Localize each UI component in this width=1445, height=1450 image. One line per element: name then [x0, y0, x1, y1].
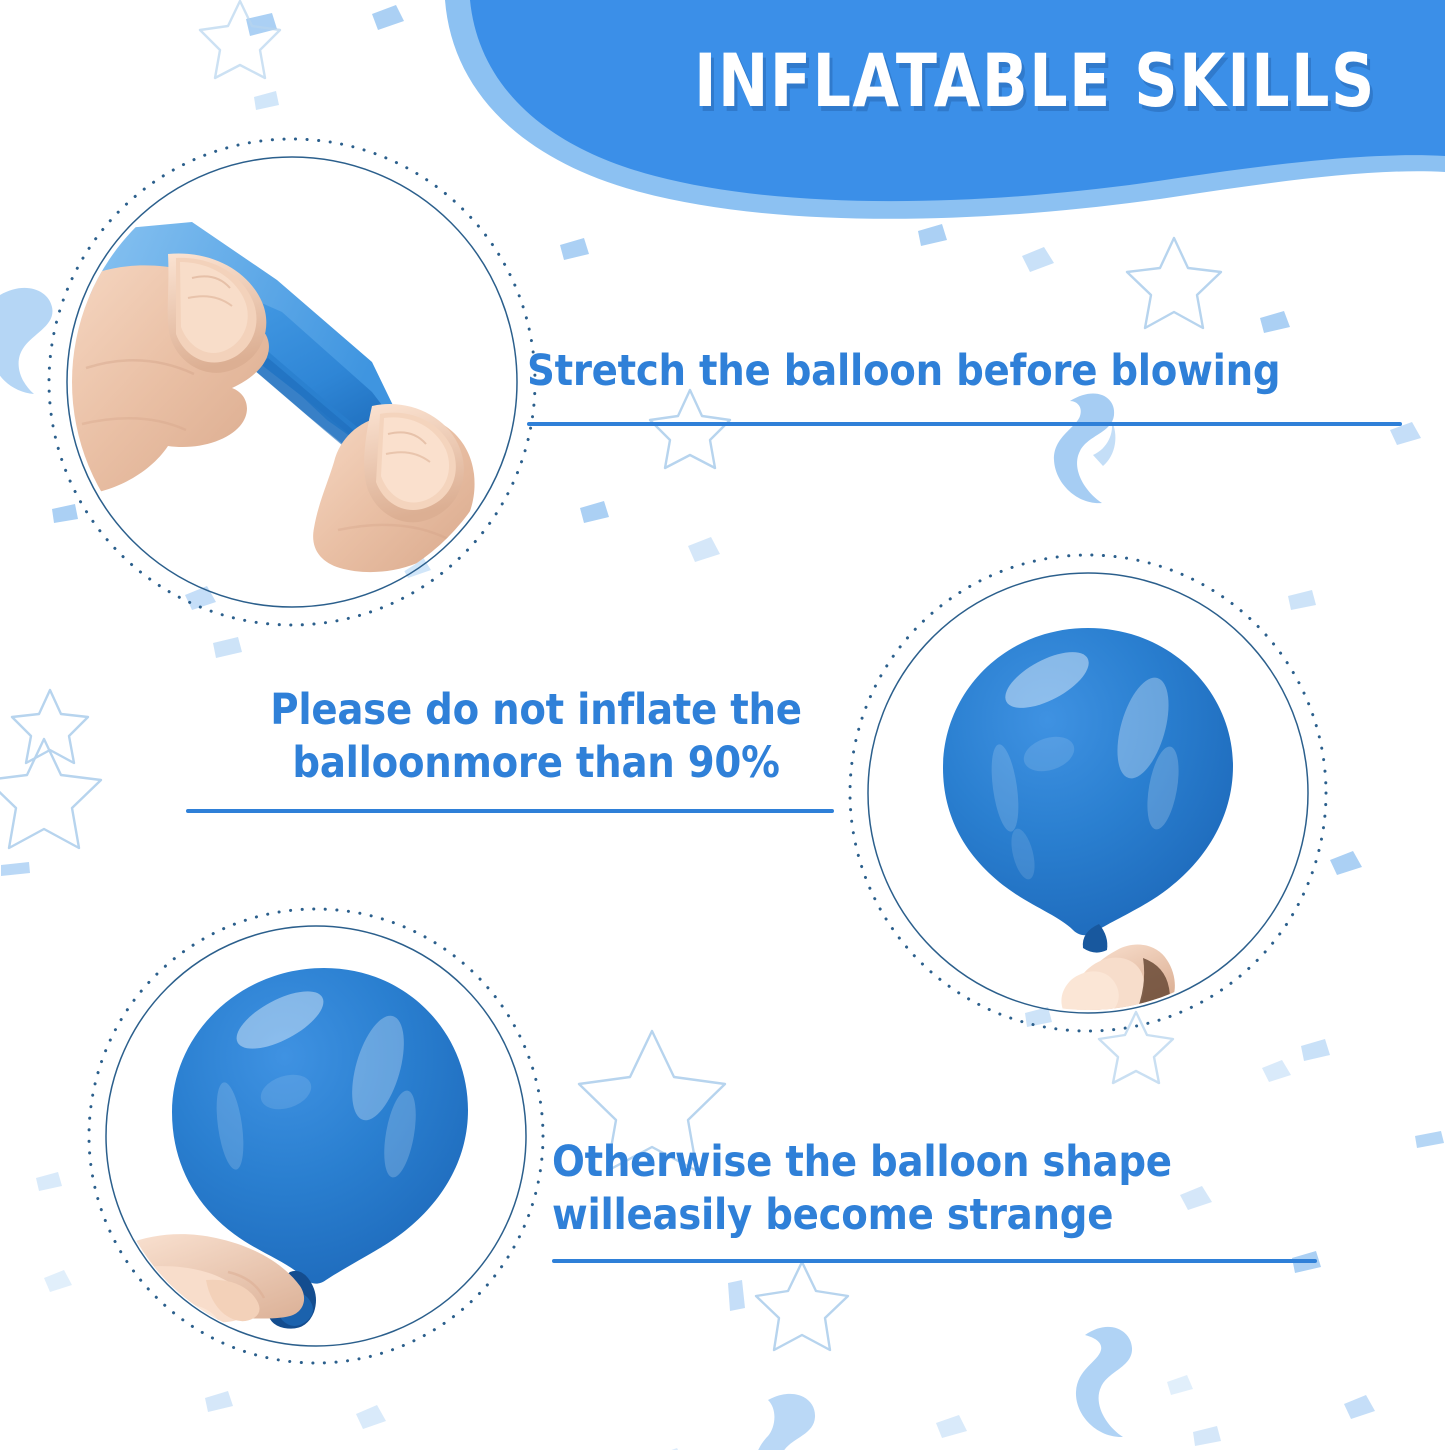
caption-otherwise: Otherwise the balloon shape willeasily b…: [552, 1136, 1332, 1263]
caption-ninety-underline: [186, 809, 834, 813]
photo-circle-tied: [82, 902, 550, 1370]
inflated-balloon-photo: [871, 576, 1305, 1010]
caption-ninety-text: Please do not inflate the balloonmore th…: [221, 684, 851, 791]
caption-stretch-text: Stretch the balloon before blowing: [527, 345, 1319, 398]
caption-otherwise-text: Otherwise the balloon shape willeasily b…: [552, 1136, 1254, 1243]
caption-ninety: Please do not inflate the balloonmore th…: [186, 684, 886, 813]
page-title: INFLATABLE SKILLS: [632, 44, 1438, 117]
poster-canvas: INFLATABLE SKILLS: [0, 0, 1445, 1450]
header-banner: INFLATABLE SKILLS: [0, 0, 1445, 250]
caption-stretch: Stretch the balloon before blowing: [527, 345, 1407, 426]
tied-balloon-photo: [108, 928, 524, 1344]
caption-stretch-underline: [527, 422, 1402, 426]
caption-otherwise-underline: [552, 1259, 1317, 1263]
photo-circle-inflated: [843, 548, 1333, 1038]
